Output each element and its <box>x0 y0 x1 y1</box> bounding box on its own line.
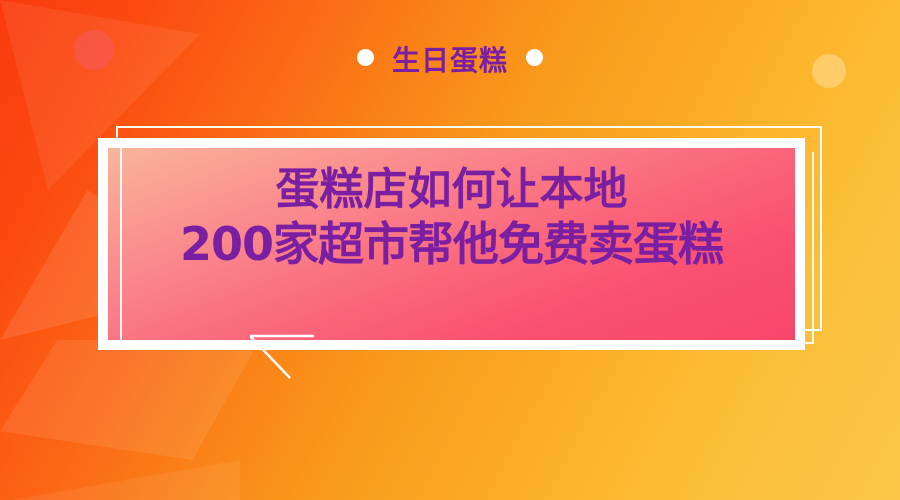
headline: 蛋糕店如何让本地 200家超市帮他免费卖蛋糕 <box>98 164 805 272</box>
speech-bubble: 蛋糕店如何让本地 200家超市帮他免费卖蛋糕 <box>98 138 805 350</box>
top-label: 生日蛋糕 <box>0 39 900 79</box>
promo-banner: 生日蛋糕 蛋糕店如何让本地 200家超市帮他免费卖蛋糕 <box>0 0 900 500</box>
headline-line-2: 200家超市帮他免费卖蛋糕 <box>98 217 805 272</box>
top-wedge-decoration <box>0 340 260 460</box>
right-dot-icon <box>526 49 543 66</box>
headline-line-1: 蛋糕店如何让本地 <box>98 164 805 217</box>
left-dot-icon <box>357 49 374 66</box>
right-triangle-decoration <box>0 460 240 500</box>
top-label-text: 生日蛋糕 <box>392 44 508 77</box>
